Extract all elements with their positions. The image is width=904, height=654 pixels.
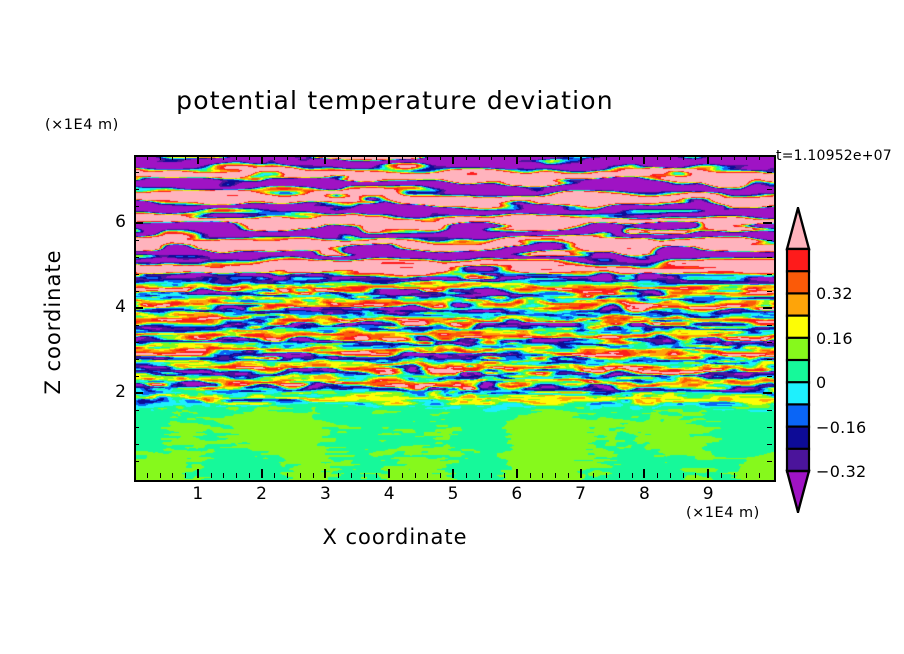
x-tick-minor xyxy=(542,473,543,478)
y-tick-label: 2 xyxy=(86,382,126,402)
x-tick-minor xyxy=(236,155,237,160)
y-tick-minor xyxy=(767,325,772,326)
y-axis-unit-label: (×1E4 m) xyxy=(45,117,119,133)
x-tick-minor xyxy=(223,473,224,478)
x-tick-minor xyxy=(746,473,747,478)
x-tick-minor xyxy=(211,155,212,160)
x-tick-major xyxy=(388,469,390,478)
x-tick-minor xyxy=(249,155,250,160)
y-tick-minor xyxy=(767,342,772,343)
x-tick-minor xyxy=(274,473,275,478)
y-tick-minor xyxy=(134,410,139,411)
x-tick-minor xyxy=(287,473,288,478)
y-tick-minor xyxy=(767,240,772,241)
y-tick-label: 6 xyxy=(86,212,126,232)
x-tick-minor xyxy=(427,155,428,160)
x-tick-label: 2 xyxy=(242,484,282,504)
x-tick-minor xyxy=(632,155,633,160)
y-tick-major xyxy=(134,392,143,394)
colorbar-tick-label: 0.16 xyxy=(816,329,853,348)
colorbar-band xyxy=(787,404,809,427)
x-tick-major xyxy=(580,155,582,164)
x-tick-minor xyxy=(606,473,607,478)
x-tick-minor xyxy=(619,473,620,478)
x-tick-minor xyxy=(670,155,671,160)
x-tick-minor xyxy=(249,473,250,478)
x-tick-label: 4 xyxy=(369,484,409,504)
x-tick-minor xyxy=(185,155,186,160)
x-tick-minor xyxy=(427,473,428,478)
x-tick-minor xyxy=(683,473,684,478)
x-tick-minor xyxy=(759,155,760,160)
x-tick-minor xyxy=(466,473,467,478)
colorbar-band xyxy=(787,360,809,383)
y-tick-minor xyxy=(767,291,772,292)
x-tick-major xyxy=(643,469,645,478)
x-tick-minor xyxy=(606,155,607,160)
x-tick-minor xyxy=(657,155,658,160)
x-tick-major xyxy=(261,469,263,478)
x-tick-minor xyxy=(440,473,441,478)
x-tick-major xyxy=(707,469,709,478)
x-tick-minor xyxy=(402,155,403,160)
x-tick-minor xyxy=(721,473,722,478)
x-tick-minor xyxy=(530,155,531,160)
x-axis-title: X coordinate xyxy=(0,525,790,549)
x-tick-minor xyxy=(504,155,505,160)
y-tick-minor xyxy=(767,172,772,173)
x-tick-minor xyxy=(491,155,492,160)
y-tick-minor xyxy=(767,410,772,411)
y-tick-major xyxy=(134,222,143,224)
x-tick-major xyxy=(388,155,390,164)
x-tick-minor xyxy=(568,155,569,160)
x-tick-major xyxy=(197,469,199,478)
contour-field xyxy=(136,157,774,480)
y-tick-major xyxy=(134,307,143,309)
x-tick-minor xyxy=(376,155,377,160)
x-tick-major xyxy=(516,155,518,164)
x-tick-minor xyxy=(555,155,556,160)
y-tick-minor xyxy=(134,172,139,173)
x-tick-major xyxy=(197,155,199,164)
x-tick-minor xyxy=(287,155,288,160)
y-tick-major xyxy=(763,392,772,394)
colorbar-band xyxy=(787,271,809,294)
y-tick-minor xyxy=(134,257,139,258)
y-tick-minor xyxy=(134,325,139,326)
x-tick-major xyxy=(324,155,326,164)
y-tick-minor xyxy=(134,206,139,207)
x-tick-minor xyxy=(657,473,658,478)
x-tick-minor xyxy=(491,473,492,478)
y-tick-minor xyxy=(767,376,772,377)
x-tick-minor xyxy=(338,473,339,478)
y-tick-minor xyxy=(767,427,772,428)
x-tick-minor xyxy=(734,155,735,160)
x-tick-major xyxy=(452,155,454,164)
colorbar-tick-label: −0.16 xyxy=(816,418,867,437)
colorbar-swatches xyxy=(785,207,811,513)
colorbar-band xyxy=(787,338,809,361)
x-tick-label: 8 xyxy=(624,484,664,504)
colorbar-tick-label: 0 xyxy=(816,373,826,392)
x-tick-minor xyxy=(530,473,531,478)
y-tick-minor xyxy=(767,206,772,207)
y-tick-major xyxy=(763,222,772,224)
x-tick-minor xyxy=(402,473,403,478)
colorbar-band xyxy=(787,316,809,339)
x-tick-minor xyxy=(351,473,352,478)
x-tick-minor xyxy=(542,155,543,160)
x-tick-label: 5 xyxy=(433,484,473,504)
x-tick-label: 9 xyxy=(688,484,728,504)
y-tick-minor xyxy=(134,189,139,190)
x-tick-minor xyxy=(300,473,301,478)
x-tick-minor xyxy=(376,473,377,478)
x-tick-minor xyxy=(759,473,760,478)
colorbar-tick-label: 0.32 xyxy=(816,284,853,303)
x-tick-minor xyxy=(415,473,416,478)
y-tick-minor xyxy=(134,240,139,241)
x-tick-minor xyxy=(172,473,173,478)
x-tick-major xyxy=(643,155,645,164)
x-tick-minor xyxy=(364,155,365,160)
y-tick-label: 4 xyxy=(86,297,126,317)
x-tick-minor xyxy=(593,473,594,478)
x-tick-minor xyxy=(479,155,480,160)
x-tick-major xyxy=(261,155,263,164)
x-tick-minor xyxy=(185,473,186,478)
x-tick-minor xyxy=(160,155,161,160)
y-tick-minor xyxy=(134,461,139,462)
x-tick-minor xyxy=(734,473,735,478)
colorbar xyxy=(785,207,811,513)
x-tick-minor xyxy=(466,155,467,160)
colorbar-top-arrow xyxy=(787,208,809,249)
x-tick-minor xyxy=(338,155,339,160)
y-tick-minor xyxy=(767,461,772,462)
x-tick-minor xyxy=(313,155,314,160)
x-tick-minor xyxy=(147,473,148,478)
x-tick-minor xyxy=(147,155,148,160)
x-tick-major xyxy=(452,469,454,478)
colorbar-tick-label: −0.32 xyxy=(816,462,867,481)
x-tick-major xyxy=(324,469,326,478)
x-tick-minor xyxy=(211,473,212,478)
x-axis-unit-label: (×1E4 m) xyxy=(686,505,760,521)
x-tick-major xyxy=(580,469,582,478)
y-tick-minor xyxy=(767,257,772,258)
y-tick-minor xyxy=(134,376,139,377)
y-tick-minor xyxy=(134,444,139,445)
time-stamp-label: t=1.10952e+07 xyxy=(776,148,904,164)
x-tick-minor xyxy=(504,473,505,478)
x-tick-label: 1 xyxy=(178,484,218,504)
x-tick-minor xyxy=(479,473,480,478)
x-tick-minor xyxy=(683,155,684,160)
x-tick-minor xyxy=(670,473,671,478)
colorbar-bottom-arrow xyxy=(787,471,809,512)
x-tick-minor xyxy=(632,473,633,478)
colorbar-band xyxy=(787,249,809,272)
page-title: potential temperature deviation xyxy=(0,86,790,115)
x-tick-major xyxy=(516,469,518,478)
x-tick-minor xyxy=(619,155,620,160)
x-tick-minor xyxy=(364,473,365,478)
y-tick-minor xyxy=(767,274,772,275)
x-tick-label: 3 xyxy=(305,484,345,504)
y-tick-minor xyxy=(134,342,139,343)
x-tick-minor xyxy=(721,155,722,160)
x-tick-minor xyxy=(555,473,556,478)
y-tick-minor xyxy=(134,291,139,292)
colorbar-band xyxy=(787,382,809,405)
x-tick-minor xyxy=(223,155,224,160)
contour-plot-area xyxy=(134,155,776,482)
x-tick-label: 6 xyxy=(497,484,537,504)
x-tick-minor xyxy=(274,155,275,160)
x-tick-minor xyxy=(746,155,747,160)
y-tick-minor xyxy=(134,274,139,275)
colorbar-band xyxy=(787,449,809,472)
x-tick-minor xyxy=(415,155,416,160)
y-tick-minor xyxy=(767,444,772,445)
x-tick-label: 7 xyxy=(561,484,601,504)
x-tick-minor xyxy=(351,155,352,160)
x-tick-minor xyxy=(172,155,173,160)
y-tick-minor xyxy=(767,359,772,360)
colorbar-band xyxy=(787,293,809,316)
x-tick-major xyxy=(707,155,709,164)
x-tick-minor xyxy=(695,155,696,160)
figure-root: potential temperature deviation (×1E4 m)… xyxy=(0,0,904,654)
x-tick-minor xyxy=(593,155,594,160)
x-tick-minor xyxy=(300,155,301,160)
x-tick-minor xyxy=(236,473,237,478)
x-tick-minor xyxy=(440,155,441,160)
x-tick-minor xyxy=(695,473,696,478)
x-tick-minor xyxy=(313,473,314,478)
y-tick-minor xyxy=(134,427,139,428)
y-tick-minor xyxy=(767,189,772,190)
x-tick-minor xyxy=(160,473,161,478)
y-axis-title: Z coordinate xyxy=(41,222,65,422)
y-tick-minor xyxy=(134,359,139,360)
colorbar-band xyxy=(787,427,809,450)
y-tick-major xyxy=(763,307,772,309)
x-tick-minor xyxy=(568,473,569,478)
